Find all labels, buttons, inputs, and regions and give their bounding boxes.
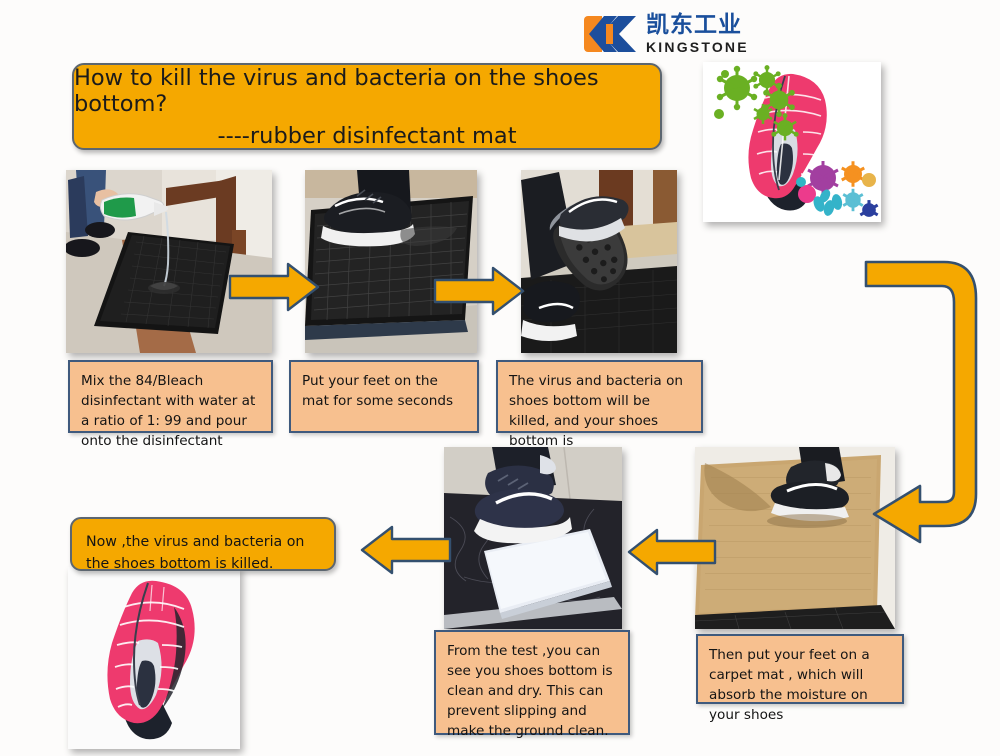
arrow-step3-to-step4 bbox=[858, 258, 998, 558]
clean-sole-graphic bbox=[68, 567, 240, 749]
title-line-2: ----rubber disinfectant mat bbox=[217, 123, 516, 149]
arrow-step2-to-step3 bbox=[433, 266, 525, 316]
brand-logo: 凯东工业 KINGSTONE bbox=[584, 10, 764, 58]
photo-shoe-on-white-paper-test bbox=[444, 447, 622, 629]
arrow-step4-to-step5 bbox=[627, 528, 717, 576]
caption-step-3: The virus and bacteria on shoes bottom w… bbox=[496, 360, 703, 433]
kingstone-k-logo-icon bbox=[584, 12, 640, 56]
caption-step-4: Then put your feet on a carpet mat , whi… bbox=[696, 634, 904, 704]
arrow-step1-to-step2 bbox=[228, 262, 320, 312]
illustration-contaminated-shoe-sole-with-germs bbox=[703, 62, 881, 222]
photo-shoe-sole-lifted bbox=[521, 170, 677, 353]
slide-title: How to kill the virus and bacteria on th… bbox=[72, 63, 662, 150]
caption-result: Now ,the virus and bacteria on the shoes… bbox=[70, 517, 336, 571]
brand-logo-text: 凯东工业 KINGSTONE bbox=[646, 14, 749, 54]
brand-english-name: KINGSTONE bbox=[646, 40, 749, 54]
title-line-1: How to kill the virus and bacteria on th… bbox=[74, 65, 660, 117]
brand-chinese-name: 凯东工业 bbox=[646, 14, 749, 37]
arrow-step5-to-result bbox=[360, 525, 452, 575]
caption-step-1: Mix the 84/Bleach disinfectant with wate… bbox=[68, 360, 273, 433]
caption-step-2: Put your feet on the mat for some second… bbox=[289, 360, 479, 433]
infographic-slide: 凯东工业 KINGSTONE How to kill the virus and… bbox=[0, 0, 1000, 756]
photo-feet-on-rubber-mat bbox=[305, 170, 477, 353]
caption-step-5: From the test ,you can see you shoes bot… bbox=[434, 630, 630, 735]
photo-clean-pink-shoe-sole bbox=[68, 567, 240, 749]
contaminated-sole-graphic bbox=[703, 62, 881, 222]
